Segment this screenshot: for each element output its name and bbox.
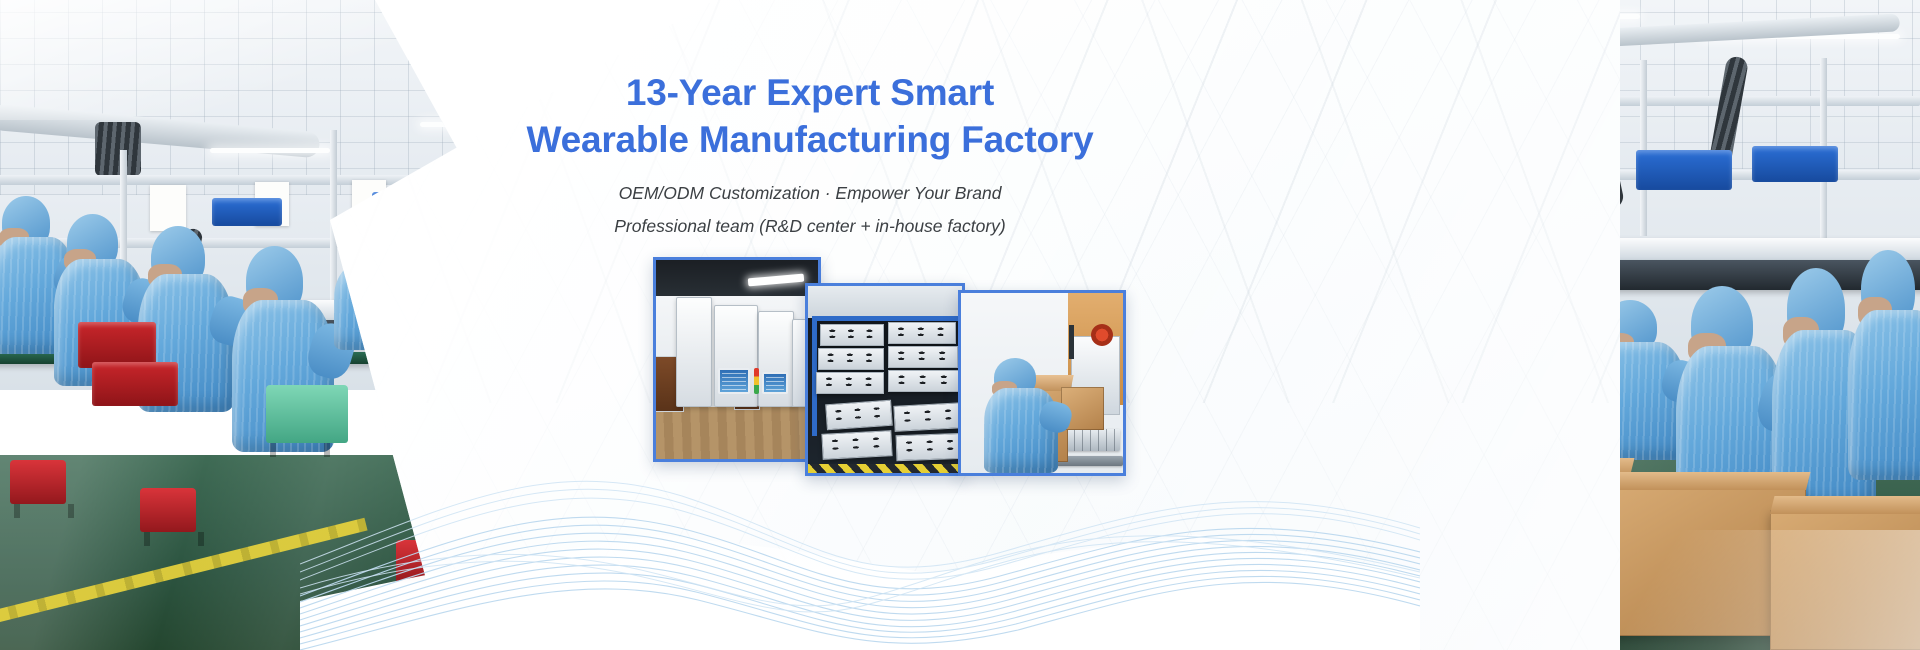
thumb2-hazard-stripe [808,464,962,473]
thumb-testing-equipment-room[interactable] [653,257,821,462]
thumb1-wood-floor [656,407,818,459]
headline-line-1: 13-Year Expert Smart [626,72,994,113]
thumb2-rack-frame-top [812,316,962,321]
work-instruction-1 [150,185,186,231]
thumb1-machine-1 [676,297,712,407]
thumb2-upper-wall [808,286,962,318]
thumb2-tray-8 [893,402,964,432]
stool-red-2 [140,488,196,532]
blue-bin-1 [212,198,282,226]
exhaust-duct-1 [95,122,141,176]
thumb2-tray-1 [820,324,884,346]
rack-post-r2 [1640,60,1647,236]
thumb2-tray-6 [888,370,960,392]
stool-red-1 [10,460,66,504]
red-crate-2 [92,362,178,406]
headline-block: 13-Year Expert Smart Wearable Manufactur… [500,70,1120,244]
thumb3-worker [984,358,1059,473]
carton-box-3 [1770,510,1920,650]
thumb2-tray-2 [888,322,956,344]
thumb1-screen-1 [718,368,750,394]
thumb2-tray-4 [888,346,958,368]
thumb3-tape-reel [1091,324,1113,346]
blue-bin-r2 [1636,150,1732,190]
subtitle-line-2: Professional team (R&D center + in-house… [500,210,1120,243]
thumb2-tray-9 [821,430,892,460]
worker-r6 [1848,250,1920,480]
headline-line-2: Wearable Manufacturing Factory [500,117,1120,164]
thumb2-tray-5 [816,372,884,394]
thumb2-tray-7 [825,400,893,431]
page-title: 13-Year Expert Smart Wearable Manufactur… [500,70,1120,163]
thumb1-indicator-lights [754,368,759,394]
blue-bin-r3 [1752,146,1838,182]
thumb1-screen-2 [762,372,788,394]
subtitle-line-1: OEM/ODM Customization · Empower Your Bra… [500,177,1120,210]
thumb3-machine-arm [1069,325,1074,359]
promo-banner: 13-Year Expert Smart Wearable Manufactur… [0,0,1920,650]
thumb2-tray-3 [818,348,884,370]
thumb-glasses-racks-trays[interactable] [805,283,965,476]
thumb-worker-packing-boxes[interactable] [958,290,1126,476]
ceiling-lamp-1 [210,148,330,153]
thumb2-tray-10 [896,433,965,461]
stool-green [266,385,348,443]
